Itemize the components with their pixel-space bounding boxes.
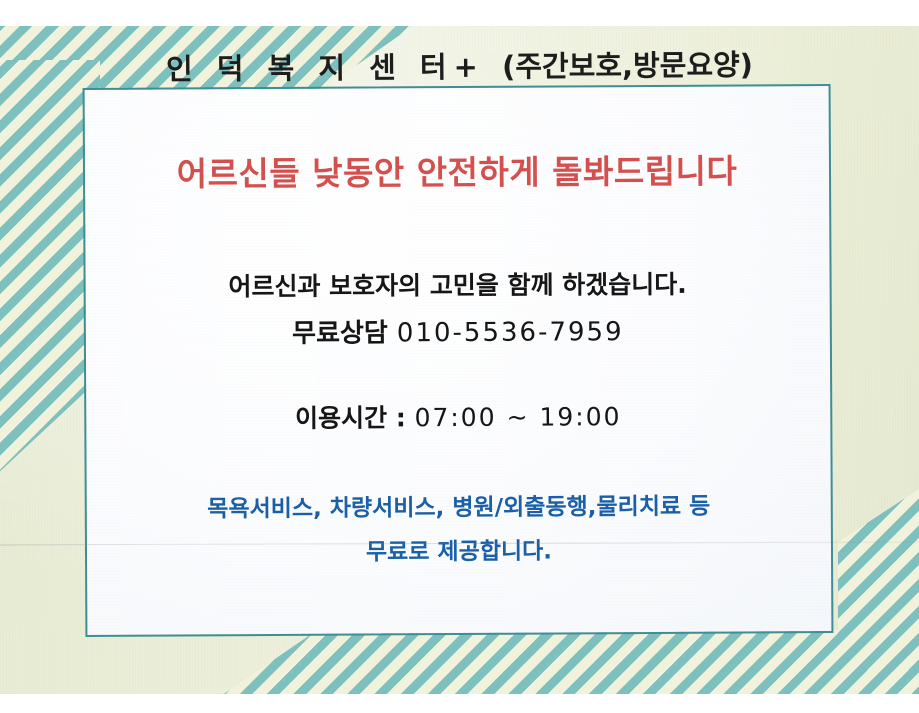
organization-title-name: 인 덕 복 지 센 터+ bbox=[166, 50, 502, 87]
scanned-flyer-page: 인 덕 복 지 센 터+ (주간보호,방문요양) 어르신들 낮동안 안전하게 돌… bbox=[0, 0, 919, 713]
operating-hours-label: 이용시간 : bbox=[295, 403, 415, 433]
services-line-1: 목욕서비스, 차량서비스, 병원/외출동행,물리치료 등 bbox=[87, 486, 831, 524]
scan-margin-bottom bbox=[0, 694, 919, 713]
organization-title-services: (주간보호,방문요양) bbox=[502, 48, 753, 84]
body-line-commitment: 어르신과 보호자의 고민을 함께 하겠습니다. bbox=[86, 264, 830, 304]
content-card-inner: 어르신들 낮동안 안전하게 돌봐드립니다 어르신과 보호자의 고민을 함께 하겠… bbox=[85, 86, 832, 635]
services-line-2: 무료로 제공합니다. bbox=[87, 530, 831, 568]
phone-number: 010-5536-7959 bbox=[397, 317, 624, 348]
free-consultation-line: 무료상담 010-5536-7959 bbox=[86, 310, 830, 351]
consultation-label: 무료상담 bbox=[292, 318, 397, 349]
scan-margin-top bbox=[0, 0, 919, 26]
operating-hours-value: 07:00 ~ 19:00 bbox=[414, 402, 621, 432]
organization-title: 인 덕 복 지 센 터+ (주간보호,방문요양) bbox=[0, 40, 919, 89]
operating-hours-line: 이용시간 : 07:00 ~ 19:00 bbox=[86, 396, 830, 436]
content-card: 어르신들 낮동안 안전하게 돌봐드립니다 어르신과 보호자의 고민을 함께 하겠… bbox=[83, 84, 834, 637]
headline-red: 어르신들 낮동안 안전하게 돌봐드립니다 bbox=[85, 144, 829, 196]
